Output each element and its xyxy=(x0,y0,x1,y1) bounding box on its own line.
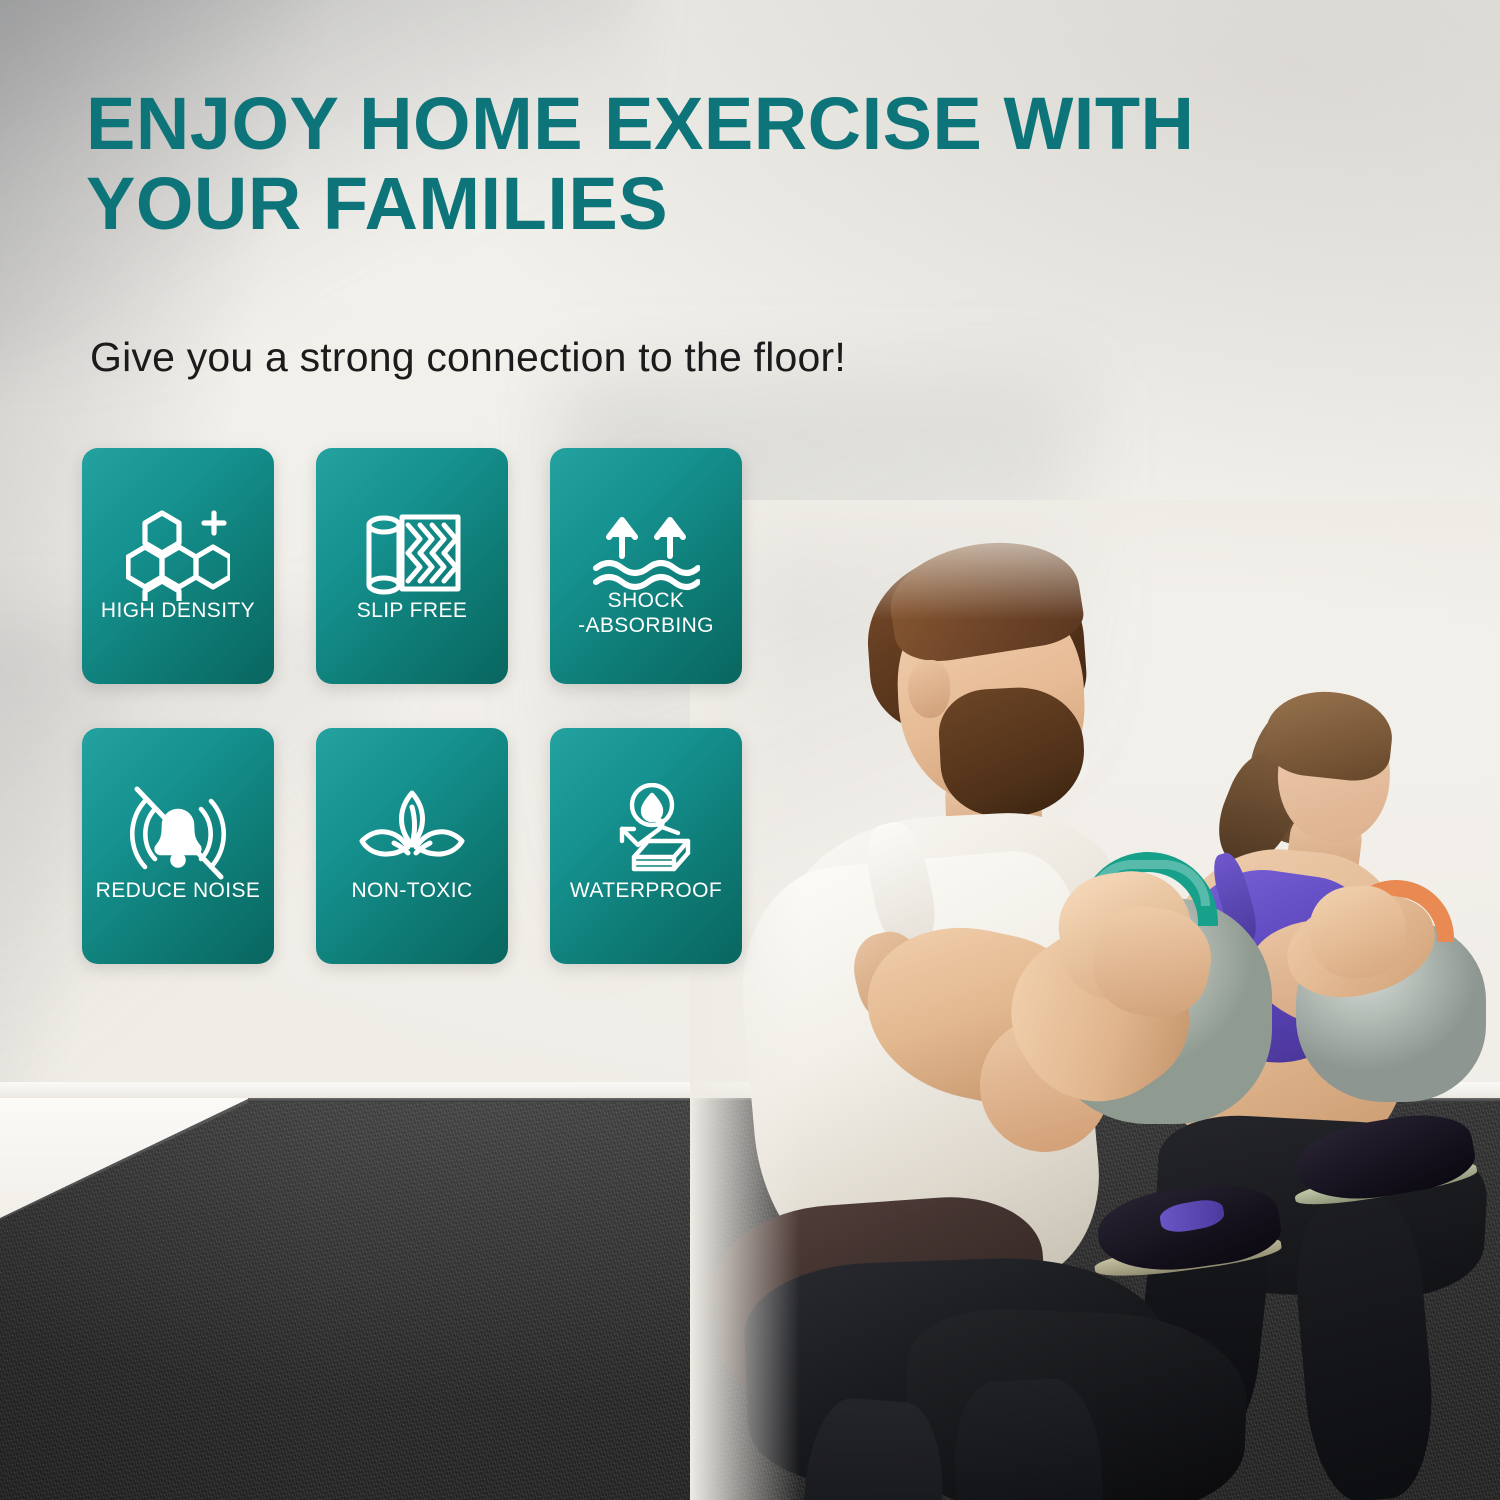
badge-label: SLIP FREE xyxy=(316,598,508,623)
badge-waterproof[interactable]: WATERPROOF xyxy=(550,728,742,964)
badge-label: SHOCK-ABSORBING xyxy=(550,588,742,638)
lifestyle-photo-subjects xyxy=(690,500,1500,1500)
badge-slip-free[interactable]: SLIP FREE xyxy=(316,448,508,684)
product-marketing-image: ENJOY HOME EXERCISE WITH YOUR FAMILIES G… xyxy=(0,0,1500,1500)
badge-label: HIGH DENSITY xyxy=(82,598,274,623)
badge-non-toxic[interactable]: NON-TOXIC xyxy=(316,728,508,964)
badge-shock-absorbing[interactable]: SHOCK-ABSORBING xyxy=(550,448,742,684)
man-beard xyxy=(937,684,1088,819)
photo-blend-top xyxy=(690,500,1500,620)
badge-high-density[interactable]: HIGH DENSITY xyxy=(82,448,274,684)
badge-label: REDUCE NOISE xyxy=(82,878,274,903)
badge-label: WATERPROOF xyxy=(550,878,742,903)
badge-label-line-2: -ABSORBING xyxy=(578,614,714,637)
feature-badge-grid: HIGH DENSITY xyxy=(82,448,742,964)
badge-reduce-noise[interactable]: REDUCE NOISE xyxy=(82,728,274,964)
page-subtitle: Give you a strong connection to the floo… xyxy=(90,334,846,381)
headline-line-1: ENJOY HOME EXERCISE WITH xyxy=(86,84,1446,164)
badge-label: NON-TOXIC xyxy=(316,878,508,903)
man-ear xyxy=(908,660,950,718)
badge-label-line-1: SHOCK xyxy=(608,589,685,612)
headline-line-2: YOUR FAMILIES xyxy=(86,164,1446,244)
page-title: ENJOY HOME EXERCISE WITH YOUR FAMILIES xyxy=(86,84,1446,244)
